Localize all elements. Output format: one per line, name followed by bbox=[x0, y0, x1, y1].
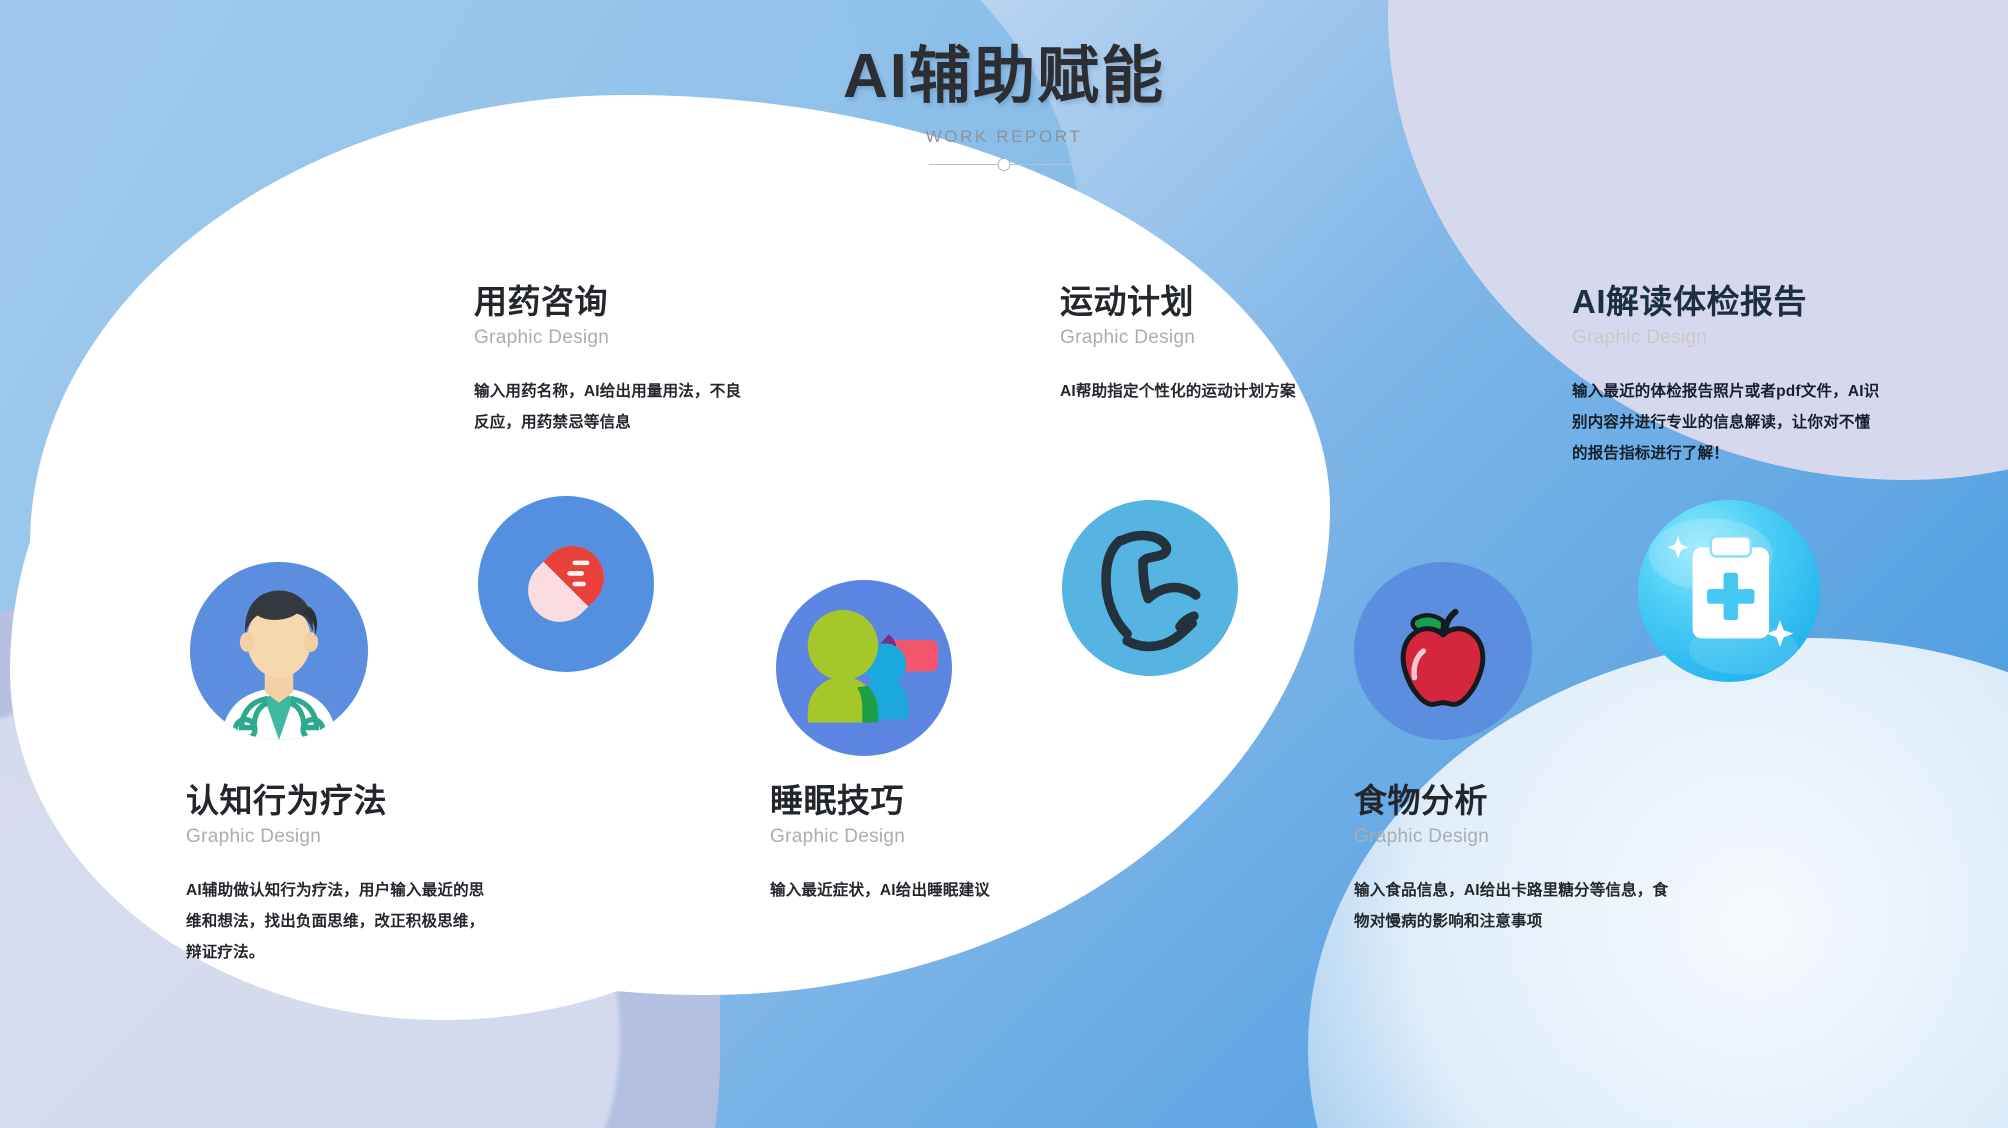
feature-title: 睡眠技巧 bbox=[770, 782, 1090, 821]
slide-canvas: AI辅助赋能 WORK REPORT 用药咨询 Graphic Design 输… bbox=[0, 0, 2008, 1128]
feature-description: 输入食品信息，AI给出卡路里糖分等信息，食物对慢病的影响和注意事项 bbox=[1354, 875, 1674, 937]
feature-block-exercise[interactable]: 运动计划 Graphic Design AI帮助指定个性化的运动计划方案 bbox=[1060, 283, 1360, 407]
feature-title: 用药咨询 bbox=[474, 283, 754, 322]
medical-clipboard-icon[interactable] bbox=[1638, 500, 1820, 682]
feature-title: 运动计划 bbox=[1060, 283, 1360, 322]
feature-title: 认知行为疗法 bbox=[186, 782, 498, 821]
feature-title: 食物分析 bbox=[1354, 782, 1674, 821]
feature-description: 输入最近症状，AI给出睡眠建议 bbox=[770, 875, 1090, 906]
feature-block-sleep[interactable]: 睡眠技巧 Graphic Design 输入最近症状，AI给出睡眠建议 bbox=[770, 782, 1090, 906]
feature-title: AI解读体检报告 bbox=[1572, 283, 1882, 322]
title-divider bbox=[929, 158, 1079, 172]
feature-block-report[interactable]: AI解读体检报告 Graphic Design 输入最近的体检报告照片或者pdf… bbox=[1572, 283, 1882, 469]
page-title: AI辅助赋能 bbox=[0, 44, 2008, 111]
feature-description: AI辅助做认知行为疗法，用户输入最近的思维和想法，找出负面思维，改正积极思维，辩… bbox=[186, 875, 498, 968]
people-chat-icon[interactable] bbox=[776, 580, 952, 756]
slide-header: AI辅助赋能 WORK REPORT bbox=[0, 44, 2008, 172]
pill-icon[interactable] bbox=[478, 496, 654, 672]
feature-block-cbt[interactable]: 认知行为疗法 Graphic Design AI辅助做认知行为疗法，用户输入最近… bbox=[186, 782, 498, 968]
feature-subtitle: Graphic Design bbox=[1354, 826, 1674, 848]
feature-description: 输入用药名称，AI给出用量用法，不良反应，用药禁忌等信息 bbox=[474, 376, 754, 438]
doctor-avatar-icon[interactable] bbox=[190, 562, 368, 740]
feature-subtitle: Graphic Design bbox=[1572, 327, 1882, 349]
feature-description: AI帮助指定个性化的运动计划方案 bbox=[1060, 376, 1360, 407]
feature-block-medicine[interactable]: 用药咨询 Graphic Design 输入用药名称，AI给出用量用法，不良反应… bbox=[474, 283, 754, 438]
feature-subtitle: Graphic Design bbox=[186, 826, 498, 848]
divider-dot-icon bbox=[998, 158, 1011, 171]
feature-description: 输入最近的体检报告照片或者pdf文件，AI识别内容并进行专业的信息解读，让你对不… bbox=[1572, 376, 1882, 469]
feature-subtitle: Graphic Design bbox=[770, 826, 1090, 848]
feature-block-food[interactable]: 食物分析 Graphic Design 输入食品信息，AI给出卡路里糖分等信息，… bbox=[1354, 782, 1674, 937]
muscle-arm-icon[interactable] bbox=[1062, 500, 1238, 676]
feature-subtitle: Graphic Design bbox=[474, 327, 754, 349]
feature-subtitle: Graphic Design bbox=[1060, 327, 1360, 349]
page-subtitle: WORK REPORT bbox=[0, 127, 2008, 147]
apple-icon[interactable] bbox=[1354, 562, 1532, 740]
